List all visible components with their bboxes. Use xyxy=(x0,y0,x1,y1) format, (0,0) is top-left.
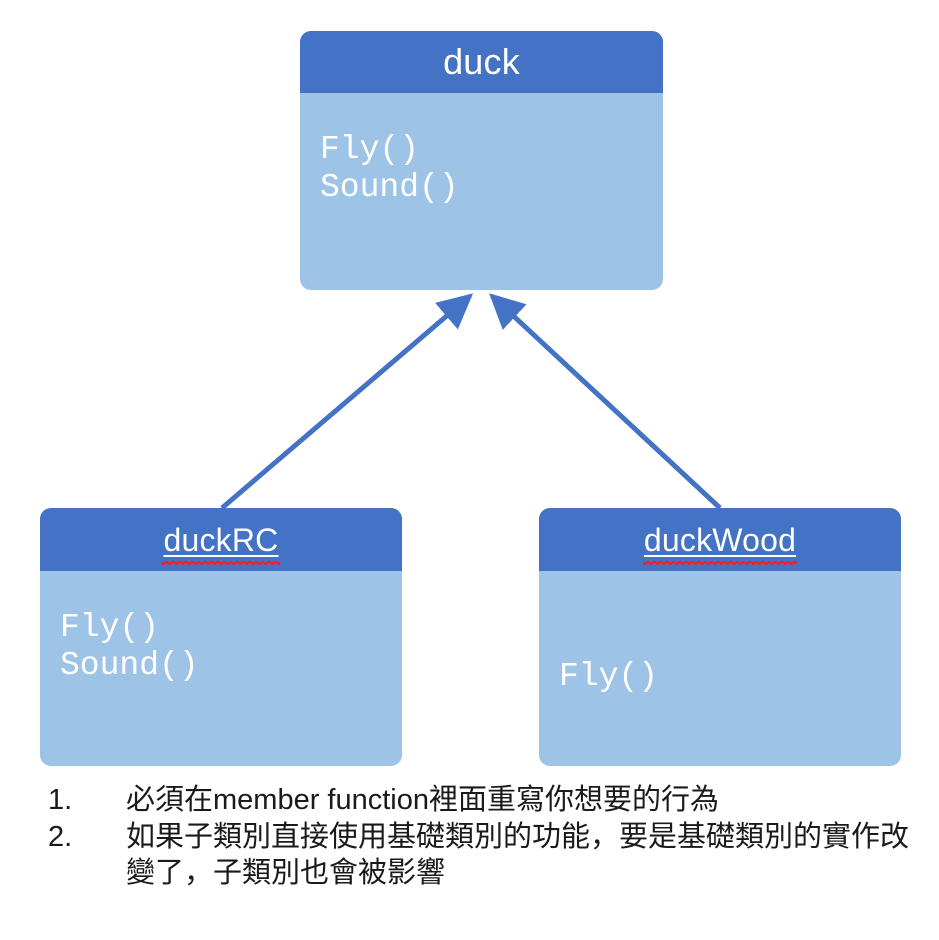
class-header-duckwood: duckWood xyxy=(539,508,901,571)
class-methods-duck: Fly() Sound() xyxy=(300,93,663,208)
class-box-duckwood[interactable]: duckWood Fly() xyxy=(539,508,901,766)
class-header-duck: duck xyxy=(300,31,663,93)
note-number: 2. xyxy=(48,819,126,856)
class-methods-duckrc: Fly() Sound() xyxy=(40,571,402,686)
note-item: 1. 必須在member function裡面重寫你想要的行為 xyxy=(48,782,928,819)
class-header-duckrc: duckRC xyxy=(40,508,402,571)
note-number: 1. xyxy=(48,782,126,819)
class-methods-duckwood: Fly() xyxy=(539,571,901,696)
inheritance-arrow-duckrc xyxy=(222,296,470,508)
class-title-duck: duck xyxy=(443,44,520,80)
slide-canvas: duck Fly() Sound() duckRC Fly() Sound() … xyxy=(0,0,939,940)
note-item: 2. 如果子類別直接使用基礎類別的功能，要是基礎類別的實作改變了，子類別也會被影… xyxy=(48,819,928,892)
note-text: 如果子類別直接使用基礎類別的功能，要是基礎類別的實作改變了，子類別也會被影響 xyxy=(126,819,928,892)
class-title-duckrc: duckRC xyxy=(163,524,278,556)
class-box-duckrc[interactable]: duckRC Fly() Sound() xyxy=(40,508,402,766)
class-title-duckwood: duckWood xyxy=(644,524,796,556)
inheritance-arrow-duckwood xyxy=(492,296,720,508)
notes-list: 1. 必須在member function裡面重寫你想要的行為 2. 如果子類別… xyxy=(48,782,928,892)
class-box-duck[interactable]: duck Fly() Sound() xyxy=(300,31,663,290)
note-text: 必須在member function裡面重寫你想要的行為 xyxy=(126,782,928,819)
